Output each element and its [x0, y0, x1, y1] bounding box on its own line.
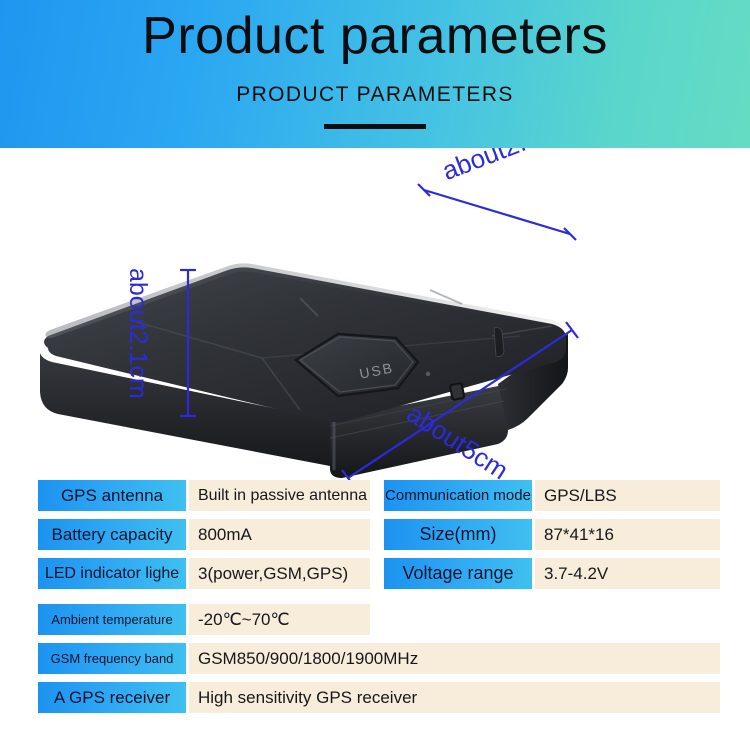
spec-value-communication-mode: GPS/LBS — [535, 480, 720, 511]
dimension-label-height: about2.1cm — [123, 268, 152, 399]
spec-value-voltage-range: 3.7-4.2V — [535, 558, 720, 589]
spec-value-ambient-temperature: -20℃~70℃ — [189, 604, 370, 635]
page-title: Product parameters — [0, 6, 750, 66]
spec-label-gps-antenna: GPS antenna — [38, 480, 186, 511]
spec-value-battery-capacity: 800mA — [189, 519, 370, 550]
page-subtitle: PRODUCT PARAMETERS — [0, 82, 750, 108]
spec-label-gps-receiver: A GPS receiver — [38, 682, 186, 713]
spec-value-gps-antenna: Built in passive antenna — [189, 480, 370, 511]
spec-table: GPS antenna Built in passive antenna Com… — [0, 480, 750, 730]
title-divider — [324, 124, 426, 129]
spec-label-ambient-temperature: Ambient temperature — [38, 604, 186, 635]
dimension-lines — [0, 148, 750, 480]
spec-label-led-indicator: LED indicator lighe — [38, 558, 186, 589]
spec-label-battery-capacity: Battery capacity — [38, 519, 186, 550]
spec-label-size: Size(mm) — [384, 519, 532, 550]
spec-value-gps-receiver: High sensitivity GPS receiver — [189, 682, 720, 713]
spec-label-voltage-range: Voltage range — [384, 558, 532, 589]
spec-label-communication-mode: Communication mode — [384, 480, 532, 511]
spec-value-gsm-frequency-band: GSM850/900/1800/1900MHz — [189, 643, 720, 674]
spec-value-size: 87*41*16 — [535, 519, 720, 550]
product-image-area: USB about2.9cm about2.1cm about5cm — [0, 148, 750, 480]
header-banner: Product parameters PRODUCT PARAMETERS — [0, 0, 750, 148]
spec-label-gsm-frequency-band: GSM frequency band — [38, 643, 186, 674]
spec-value-led-indicator: 3(power,GSM,GPS) — [189, 558, 370, 589]
